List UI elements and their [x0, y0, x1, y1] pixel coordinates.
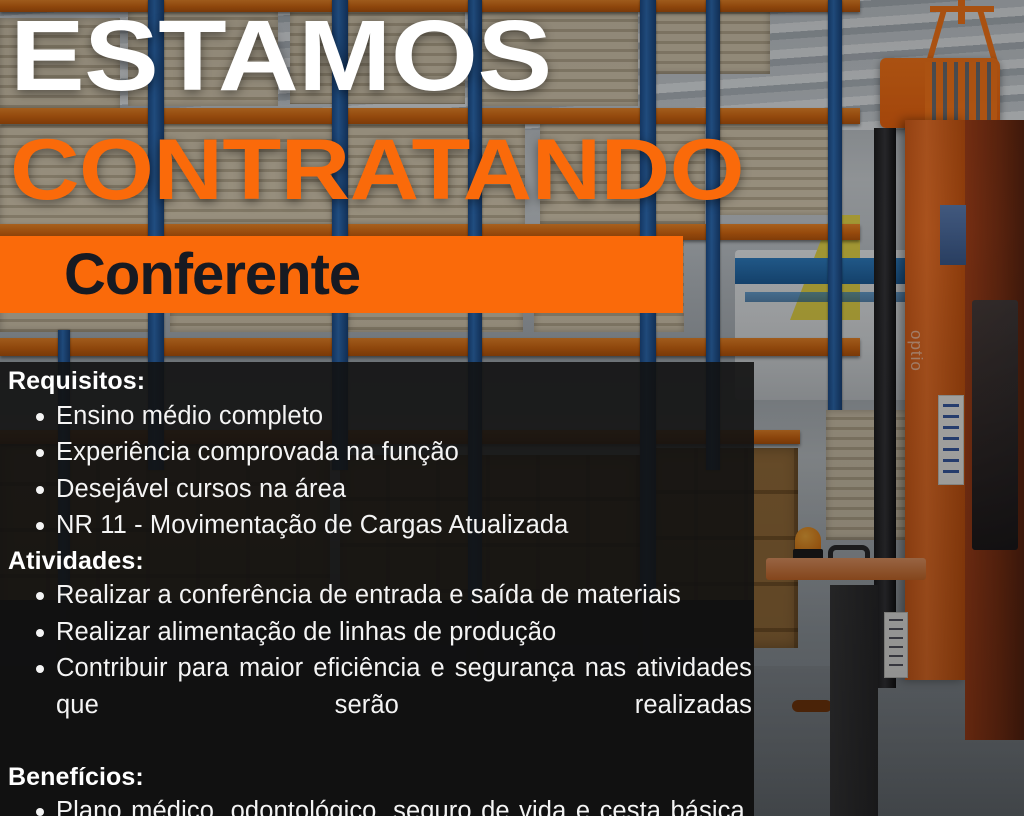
list-item: Realizar a conferência de entrada e saíd… [8, 577, 752, 614]
job-posting-poster: optio ESTAMOS CONTRATANDO Conferente Req… [0, 0, 1024, 816]
list-item: Realizar alimentação de linhas de produç… [8, 614, 752, 651]
list-item: NR 11 - Movimentação de Cargas Atualizad… [8, 507, 752, 544]
list-item: Desejável cursos na área [8, 471, 752, 508]
atividades-list: Realizar a conferência de entrada e saíd… [8, 577, 752, 760]
list-item: Plano médico, odontológico, seguro de vi… [8, 793, 752, 816]
headline-line-2: CONTRATANDO [10, 134, 744, 206]
job-details-content: Requisitos: Ensino médio completo Experi… [8, 366, 752, 816]
list-item: Ensino médio completo [8, 398, 752, 435]
section-heading-requisitos: Requisitos: [8, 366, 752, 397]
beneficios-list: Plano médico, odontológico, seguro de vi… [8, 793, 752, 816]
role-title-banner: Conferente [0, 236, 683, 313]
section-heading-atividades: Atividades: [8, 546, 752, 577]
role-title-text: Conferente [64, 246, 360, 304]
headline-line-1: ESTAMOS [10, 14, 552, 98]
section-heading-beneficios: Benefícios: [8, 762, 752, 793]
list-item: Contribuir para maior eficiência e segur… [8, 650, 752, 760]
requisitos-list: Ensino médio completo Experiência compro… [8, 398, 752, 544]
list-item: Experiência comprovada na função [8, 434, 752, 471]
